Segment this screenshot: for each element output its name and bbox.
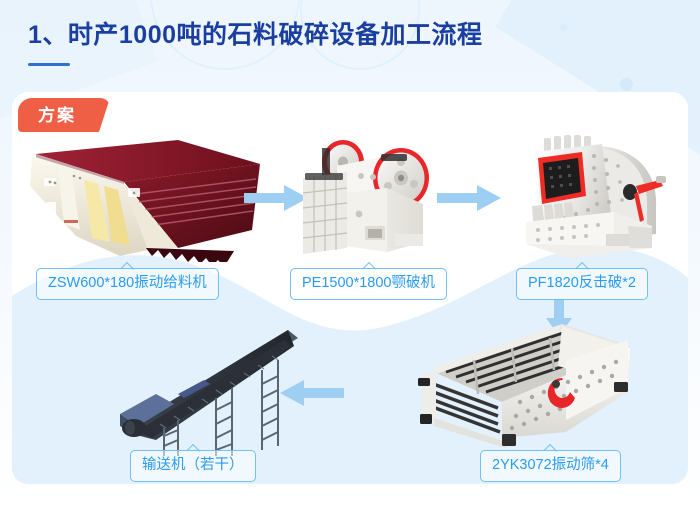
label-jaw-crusher: PE1500*1800颚破机 bbox=[290, 268, 447, 300]
label-notch-icon bbox=[121, 262, 134, 270]
label-vibrating-screen: 2YK3072振动筛*4 bbox=[480, 450, 621, 482]
label-text: 2YK3072振动筛*4 bbox=[492, 457, 609, 473]
title-underline bbox=[28, 63, 70, 66]
label-text: ZSW600*180振动给料机 bbox=[48, 275, 207, 291]
label-impact-crusher: PF1820反击破*2 bbox=[516, 268, 648, 300]
page-header: 1、时产1000吨的石料破碎设备加工流程 bbox=[28, 18, 668, 66]
label-notch-icon bbox=[363, 262, 376, 270]
scheme-badge-label: 方案 bbox=[38, 107, 76, 124]
label-notch-icon bbox=[576, 262, 589, 270]
belt-conveyor-image bbox=[112, 328, 302, 458]
label-text: PF1820反击破*2 bbox=[528, 275, 636, 291]
jaw-crusher-image bbox=[295, 130, 441, 262]
arrow-jaw-to-impact bbox=[437, 185, 501, 211]
vibrating-screen-image bbox=[416, 320, 644, 452]
vibrating-feeder-image bbox=[28, 132, 264, 262]
scheme-badge: 方案 bbox=[18, 98, 110, 132]
page-title: 1、时产1000吨的石料破碎设备加工流程 bbox=[28, 18, 668, 52]
label-notch-icon bbox=[187, 444, 200, 452]
impact-crusher-image bbox=[510, 130, 680, 262]
background-dot-1 bbox=[620, 78, 633, 91]
flow-card: ZSW600*180振动给料机 bbox=[12, 92, 688, 484]
label-text: PE1500*1800颚破机 bbox=[302, 275, 435, 291]
flowchart-page: 1、时产1000吨的石料破碎设备加工流程 bbox=[0, 0, 700, 507]
label-belt-conveyor: 输送机（若干） bbox=[130, 450, 256, 482]
label-text: 输送机（若干） bbox=[142, 457, 244, 473]
label-notch-icon bbox=[544, 444, 557, 452]
label-vibrating-feeder: ZSW600*180振动给料机 bbox=[36, 268, 219, 300]
